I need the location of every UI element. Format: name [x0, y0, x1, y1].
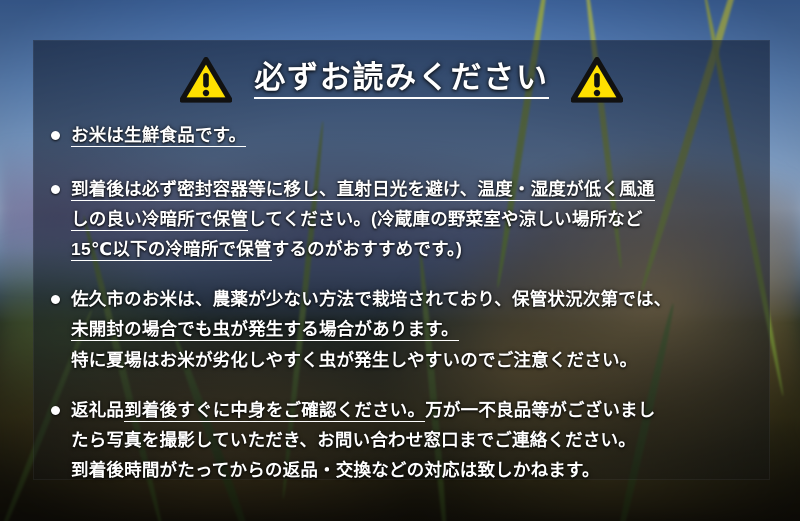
emphasis-underlined-text: しの良い冷暗所で保管	[71, 209, 248, 231]
bullet-line: たら写真を撮影していただき、お問い合わせ窓口までご連絡ください。	[71, 425, 787, 455]
notice-header: 必ずお読みください	[33, 44, 770, 116]
plain-text: 万が一不良品等がございまし	[425, 400, 655, 420]
warning-triangle-icon	[180, 57, 232, 103]
bullet-dot-icon	[51, 406, 60, 415]
notice-banner: 必ずお読みください お米は生鮮食品です。到着後は必ず密封容器等に移し、直射日光を…	[0, 0, 800, 521]
bullet-text-lines: 返礼品到着後すぐに中身をご確認ください。万が一不良品等がございましたら写真を撮影…	[43, 395, 787, 485]
bullet-line: 佐久市のお米は、農薬が少ない方法で栽培されており、保管状況次第では、	[71, 284, 787, 314]
bullet-line: しの良い冷暗所で保管してください。(冷蔵庫の野菜室や涼しい場所など	[71, 204, 787, 234]
plain-text: 佐久市のお米は、農薬が少ない方法で栽培されており、保管状況次第では、	[71, 289, 671, 309]
bullet-line: 返礼品到着後すぐに中身をご確認ください。万が一不良品等がございまし	[71, 395, 787, 425]
bullet-line: 15℃以下の冷暗所で保管するのがおすすめです。)	[71, 234, 787, 264]
bullet-line: 未開封の場合でも虫が発生する場合があります。	[71, 314, 787, 344]
bullet-text-lines: 佐久市のお米は、農薬が少ない方法で栽培されており、保管状況次第では、未開封の場合…	[43, 284, 787, 374]
plain-text: 到着後時間がたってからの返品・交換などの対応は致しかねます。	[71, 460, 600, 480]
bullet-line: 到着後時間がたってからの返品・交換などの対応は致しかねます。	[71, 455, 787, 485]
bullet-line: お米は生鮮食品です。	[71, 120, 787, 150]
bullet-text-lines: 到着後は必ず密封容器等に移し、直射日光を避け、温度・湿度が低く風通しの良い冷暗所…	[43, 174, 787, 264]
plain-text: たら写真を撮影していただき、お問い合わせ窓口までご連絡ください。	[71, 430, 636, 450]
bullet-line: 特に夏場はお米が劣化しやすく虫が発生しやすいのでご注意ください。	[71, 345, 787, 375]
bullet-line: 到着後は必ず密封容器等に移し、直射日光を避け、温度・湿度が低く風通	[71, 174, 787, 204]
plain-text: 返礼品	[71, 400, 124, 420]
bullet-dot-icon	[51, 131, 60, 140]
emphasis-underlined-text: 到着後すぐに中身をご確認ください。	[124, 400, 425, 422]
notice-bullet-list: お米は生鮮食品です。到着後は必ず密封容器等に移し、直射日光を避け、温度・湿度が低…	[33, 120, 793, 485]
plain-text: 特に夏場はお米が劣化しやすく虫が発生しやすいのでご注意ください。	[71, 350, 637, 370]
notice-bullet-fresh-food: お米は生鮮食品です。	[43, 120, 787, 150]
notice-bullet-storage: 到着後は必ず密封容器等に移し、直射日光を避け、温度・湿度が低く風通しの良い冷暗所…	[43, 174, 787, 264]
plain-text: してください。(冷蔵庫の野菜室や涼しい場所など	[248, 209, 643, 229]
emphasis-underlined-text: お米は生鮮食品です。	[71, 125, 246, 147]
bullet-text-lines: お米は生鮮食品です。	[43, 120, 787, 150]
plain-text: するのがおすすめです。)	[272, 239, 462, 259]
notice-bullet-insects: 佐久市のお米は、農薬が少ない方法で栽培されており、保管状況次第では、未開封の場合…	[43, 284, 787, 374]
emphasis-underlined-text: 15℃以下の冷暗所で保管	[71, 239, 272, 261]
page-title: 必ずお読みください	[254, 61, 548, 98]
notice-bullet-inspect-on-arrival: 返礼品到着後すぐに中身をご確認ください。万が一不良品等がございましたら写真を撮影…	[43, 395, 787, 485]
emphasis-underlined-text: 未開封の場合でも虫が発生する場合があります。	[71, 319, 459, 341]
warning-triangle-icon	[571, 57, 623, 103]
emphasis-underlined-text: 到着後は必ず密封容器等に移し、直射日光を避け、温度・湿度が低く風通	[71, 179, 655, 201]
